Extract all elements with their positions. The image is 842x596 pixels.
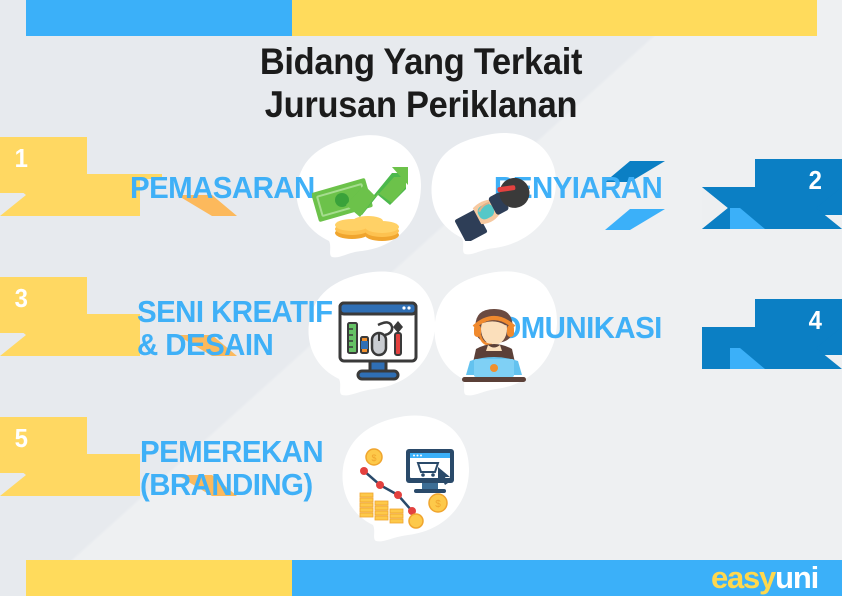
item-row-1-right: 2 PENYIARAN	[0, 133, 842, 273]
page-title-line-1: Bidang Yang Terkait	[29, 40, 812, 83]
page-title-line-2: Jurusan Periklanan	[29, 83, 812, 126]
page-title: Bidang Yang Terkait Jurusan Periklanan	[29, 40, 812, 126]
logo-text-easy: easy	[711, 560, 775, 595]
infographic-canvas: Bidang Yang Terkait Jurusan Periklanan 1…	[0, 0, 842, 596]
top-bar-yellow-block	[292, 0, 817, 36]
ribbon-5-number: 5	[15, 423, 28, 454]
headset-agent-laptop-icon	[450, 303, 538, 394]
item-5-label: PEMEREKAN (BRANDING)	[140, 435, 323, 501]
ecommerce-chart-icon: $ $	[354, 439, 458, 536]
top-bar-blue-block	[26, 0, 292, 36]
svg-text:$: $	[435, 499, 441, 510]
item-row-3: 5 PEMEREKAN (BRANDING)	[0, 413, 842, 553]
ribbon-2-number: 2	[808, 165, 821, 196]
microphone-hand-icon	[448, 169, 544, 246]
easyuni-logo[interactable]: easyuni .co.id	[711, 562, 818, 596]
svg-text:$: $	[371, 453, 376, 463]
bottom-bar-yellow-block	[26, 560, 292, 596]
item-row-2-right: 4 KOMUNIKASI	[0, 273, 842, 413]
ribbon-4-number: 4	[808, 305, 821, 336]
